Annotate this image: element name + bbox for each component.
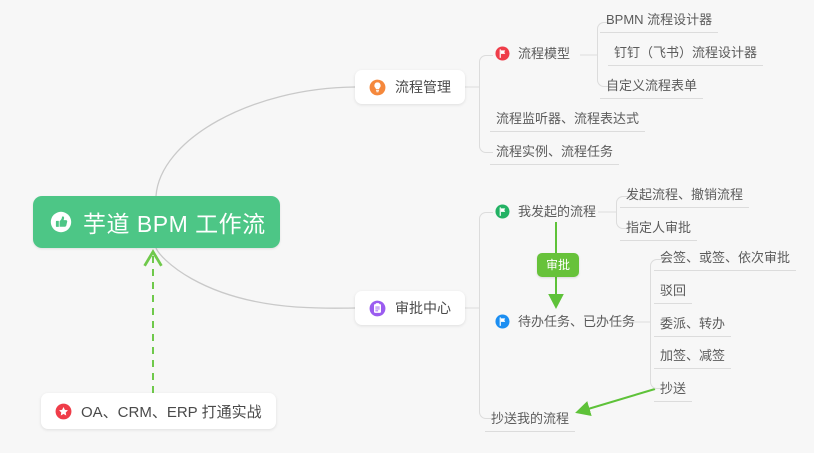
leaf-process-instance[interactable]: 流程实例、流程任务	[490, 143, 619, 165]
leaf-todo-done-tasks[interactable]: 待办任务、已办任务	[495, 313, 641, 334]
leaf-reject[interactable]: 驳回	[654, 282, 692, 304]
leaf-my-initiated[interactable]: 我发起的流程	[495, 203, 602, 224]
leaf-assigned-approval[interactable]: 指定人审批	[620, 219, 697, 241]
flag-icon	[495, 314, 510, 329]
leaf-label-process-model: 流程模型	[518, 45, 570, 62]
leaf-add-remove-sign[interactable]: 加签、减签	[654, 347, 731, 369]
branch-label-approval-center: 审批中心	[395, 298, 451, 318]
rail-process-management-top	[479, 55, 493, 88]
thumbs-up-icon	[50, 211, 72, 233]
arrow-cc-to-my-cc-process	[578, 389, 655, 412]
flag-icon	[495, 204, 510, 219]
leaf-delegate-transfer[interactable]: 委派、转办	[654, 315, 731, 337]
leaf-bpmn-designer[interactable]: BPMN 流程设计器	[600, 11, 718, 33]
leaf-cc[interactable]: 抄送	[654, 380, 692, 402]
leaf-countersign[interactable]: 会签、或签、依次审批	[654, 249, 796, 271]
leaf-start-cancel-process[interactable]: 发起流程、撤销流程	[620, 186, 749, 208]
link-root-to-process-management	[156, 87, 355, 196]
lightbulb-icon	[369, 79, 386, 96]
rail-approval-center-top	[479, 212, 493, 308]
flag-icon	[495, 46, 510, 61]
leaf-cc-to-me[interactable]: 抄送我的流程	[485, 410, 575, 432]
leaf-label-my-initiated: 我发起的流程	[518, 203, 596, 220]
branch-node-process-management[interactable]: 流程管理	[355, 70, 465, 104]
mindmap-canvas: 芋道 BPM 工作流 流程管理 流程模型 BPMN 流程设计器 钉钉（飞书）流程…	[0, 0, 814, 453]
branch-node-approval-center[interactable]: 审批中心	[355, 291, 465, 325]
bottom-note-label: OA、CRM、ERP 打通实战	[81, 401, 262, 422]
leaf-process-listener[interactable]: 流程监听器、流程表达式	[490, 110, 645, 132]
leaf-custom-form[interactable]: 自定义流程表单	[600, 77, 703, 99]
root-node[interactable]: 芋道 BPM 工作流	[33, 196, 280, 248]
link-root-to-approval-center	[156, 248, 355, 308]
leaf-process-model[interactable]: 流程模型	[495, 45, 576, 66]
bottom-note-node[interactable]: OA、CRM、ERP 打通实战	[41, 393, 276, 429]
root-label: 芋道 BPM 工作流	[83, 205, 266, 239]
leaf-dingtalk-designer[interactable]: 钉钉（飞书）流程设计器	[608, 44, 763, 66]
star-icon	[55, 403, 72, 420]
branch-label-process-management: 流程管理	[395, 77, 451, 97]
leaf-label-todo-done-tasks: 待办任务、已办任务	[518, 313, 635, 330]
clipboard-icon	[369, 300, 386, 317]
approval-badge: 审批	[537, 253, 579, 277]
rail-approval-center-bottom	[479, 308, 493, 419]
